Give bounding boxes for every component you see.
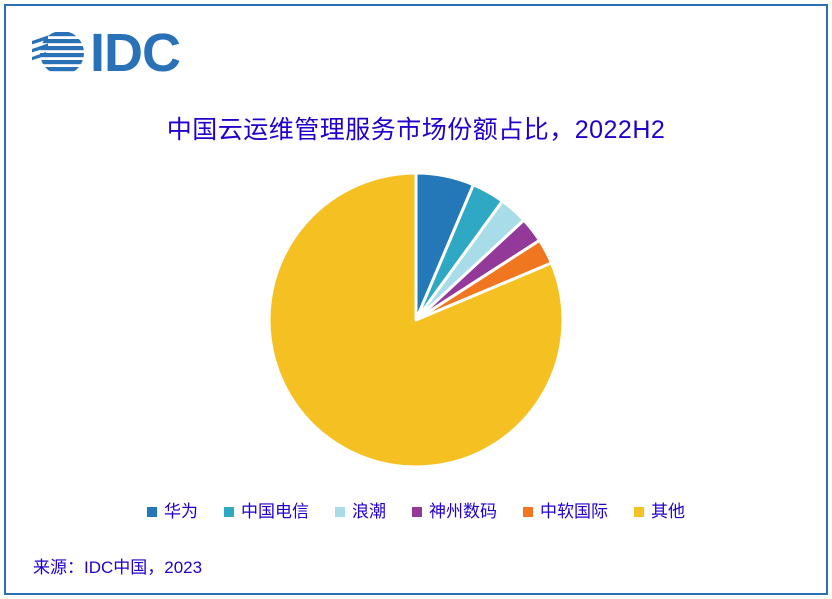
legend-label: 华为	[164, 503, 198, 520]
source-note: 来源：IDC中国，2023	[33, 553, 202, 578]
legend-swatch-icon	[224, 507, 234, 517]
legend-label: 神州数码	[429, 503, 497, 520]
legend-item[interactable]: 中软国际	[523, 503, 608, 520]
legend-item[interactable]: 华为	[147, 503, 198, 520]
legend-item[interactable]: 中国电信	[224, 503, 309, 520]
legend-item[interactable]: 神州数码	[412, 503, 497, 520]
legend-swatch-icon	[412, 507, 422, 517]
legend-swatch-icon	[335, 507, 345, 517]
pie-chart	[266, 170, 566, 470]
legend-swatch-icon	[523, 507, 533, 517]
legend-item[interactable]: 浪潮	[335, 503, 386, 520]
legend-label: 中国电信	[241, 503, 309, 520]
idc-logo-text: IDC	[90, 26, 180, 80]
idc-logo: IDC	[32, 26, 180, 80]
legend-swatch-icon	[147, 507, 157, 517]
legend-label: 其他	[651, 503, 685, 520]
chart-title: 中国云运维管理服务市场份额占比，2022H2	[0, 110, 832, 146]
idc-globe-icon	[32, 28, 88, 78]
legend-label: 浪潮	[352, 503, 386, 520]
legend-item[interactable]: 其他	[634, 503, 685, 520]
chart-legend: 华为中国电信浪潮神州数码中软国际其他	[0, 503, 832, 520]
legend-label: 中软国际	[540, 503, 608, 520]
chart-plot-area	[0, 170, 832, 490]
pie-slice-group	[269, 173, 563, 467]
slide-canvas: IDC 中国云运维管理服务市场份额占比，2022H2 华为中国电信浪潮神州数码中…	[0, 0, 832, 599]
legend-swatch-icon	[634, 507, 644, 517]
